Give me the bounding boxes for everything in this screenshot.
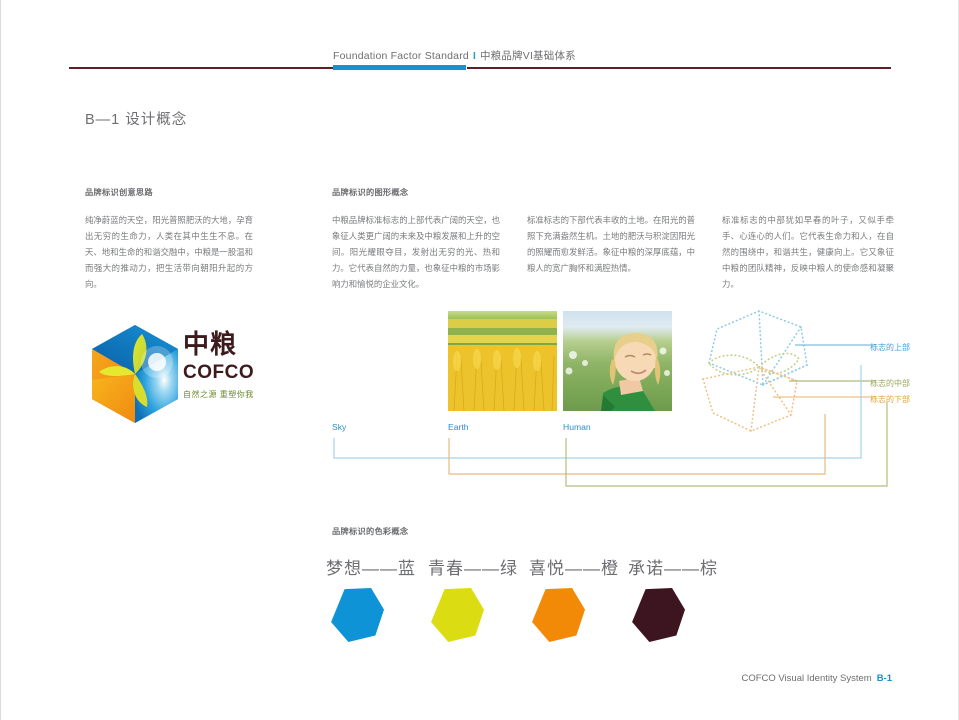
header-title: Foundation Factor StandardI中粮品牌VI基础体系 <box>333 48 576 63</box>
footer-text: COFCO Visual Identity System <box>741 673 871 684</box>
footer-page-number: B-1 <box>877 673 892 684</box>
photo-to-logo-connectors <box>321 330 901 490</box>
color-swatch-blue <box>330 588 384 642</box>
header-separator: I <box>473 51 476 62</box>
color-swatch-brown <box>631 588 685 642</box>
color-word-brown: 承诺——棕 <box>628 554 718 579</box>
section-heading: B—1 设计概念 <box>85 108 187 129</box>
graphic-concept-body-lower: 标准标志的下部代表丰收的土地。在阳光的普照下充满盎然生机。土地的肥沃与积淀因阳光… <box>527 212 695 276</box>
color-word-orange: 喜悦——橙 <box>529 554 619 579</box>
earth-field-band <box>448 311 557 319</box>
header-rule-left <box>69 67 333 69</box>
cofco-logo: 中粮 COFCO 自然之源 重塑你我 <box>87 322 267 427</box>
concept-heading: 品牌标识创意思路 <box>85 186 153 198</box>
footer: COFCO Visual Identity SystemB-1 <box>741 673 892 684</box>
color-word-green: 青春——绿 <box>428 554 518 579</box>
earth-field-band <box>448 319 557 328</box>
concept-body: 纯净蔚蓝的天空，阳光普照肥沃的大地，孕育出无穷的生命力，人类在其中生生不息。在天… <box>85 212 253 292</box>
connector-sky <box>334 365 861 458</box>
color-swatch-green <box>430 588 484 642</box>
cofco-logo-en: COFCO <box>183 362 267 384</box>
cofco-logo-wordmark: 中粮 COFCO 自然之源 重塑你我 <box>183 330 267 400</box>
header-rule-accent <box>333 65 466 70</box>
graphic-concept-heading: 品牌标识的图形概念 <box>332 186 408 198</box>
color-word-blue: 梦想——蓝 <box>326 554 416 579</box>
graphic-concept-body-upper: 中粮品牌标准标志的上部代表广阔的天空，也象征人类更广阔的未来及中粮发展和上升的空… <box>332 212 500 292</box>
header-rule-right <box>467 67 891 69</box>
cofco-logo-slogan: 自然之源 重塑你我 <box>183 389 267 400</box>
graphic-concept-body-middle: 标准标志的中部犹如早春的叶子，又似手牵手、心连心的人们。它代表生命力和人，在自然… <box>722 212 894 292</box>
cofco-cube-icon <box>87 322 183 426</box>
cofco-logo-cn: 中粮 <box>183 330 267 360</box>
page-canvas: Foundation Factor StandardI中粮品牌VI基础体系 B—… <box>0 0 959 720</box>
header-title-cn: 中粮品牌VI基础体系 <box>480 50 576 62</box>
color-swatch-orange <box>531 588 585 642</box>
connector-earth <box>449 414 825 474</box>
color-concept-heading: 品牌标识的色彩概念 <box>332 525 408 537</box>
header-title-en: Foundation Factor Standard <box>333 50 469 62</box>
